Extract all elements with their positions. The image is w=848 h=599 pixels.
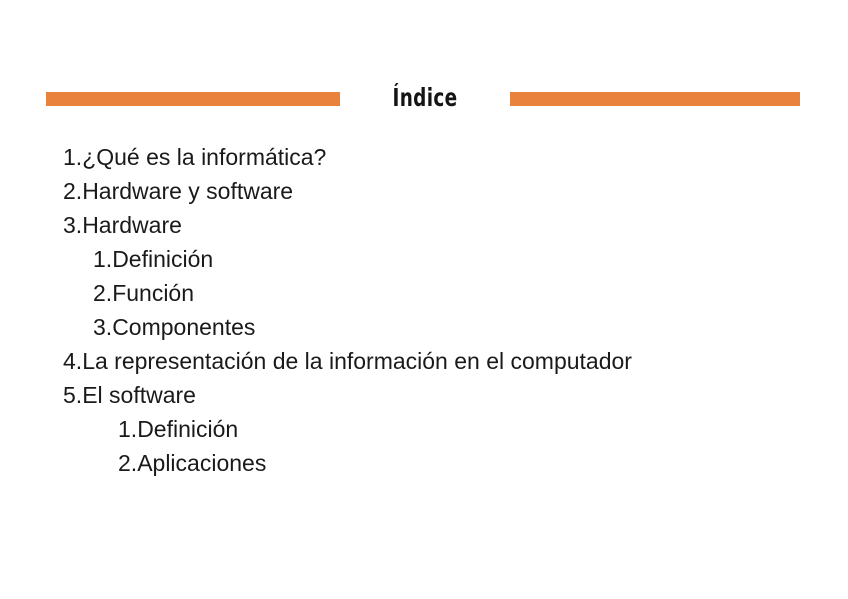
- toc-item-label: ¿Qué es la informática?: [82, 144, 326, 170]
- toc-item-number: 1.: [63, 144, 82, 170]
- toc-item[interactable]: 3.Componentes: [0, 310, 848, 344]
- toc-item-label: La representación de la información en e…: [82, 348, 632, 374]
- title-rule-right-decoration: [510, 92, 800, 106]
- toc-item-number: 2.: [63, 178, 82, 204]
- page-title: Índice: [355, 82, 494, 114]
- toc-item-label: Definición: [137, 416, 238, 442]
- title-band: Índice: [0, 82, 848, 116]
- toc-item-label: Hardware y software: [82, 178, 293, 204]
- toc-item[interactable]: 2.Aplicaciones: [0, 446, 848, 480]
- toc-item[interactable]: 3.Hardware: [0, 208, 848, 242]
- toc-item-number: 2.: [118, 450, 137, 476]
- toc-item[interactable]: 4.La representación de la información en…: [0, 344, 848, 378]
- toc-item[interactable]: 2.Función: [0, 276, 848, 310]
- toc-item[interactable]: 1.Definición: [0, 242, 848, 276]
- table-of-contents: 1.¿Qué es la informática?2.Hardware y so…: [0, 140, 848, 480]
- toc-item-label: Definición: [112, 246, 213, 272]
- title-rule-left-decoration: [46, 92, 340, 106]
- toc-item-number: 5.: [63, 382, 82, 408]
- slide-canvas: Índice 1.¿Qué es la informática?2.Hardwa…: [0, 0, 848, 599]
- toc-item[interactable]: 5.El software: [0, 378, 848, 412]
- toc-item-label: El software: [82, 382, 196, 408]
- toc-item[interactable]: 2.Hardware y software: [0, 174, 848, 208]
- toc-item-number: 3.: [93, 314, 112, 340]
- toc-item-number: 1.: [93, 246, 112, 272]
- toc-item-number: 4.: [63, 348, 82, 374]
- toc-item-label: Aplicaciones: [137, 450, 266, 476]
- toc-item-number: 2.: [93, 280, 112, 306]
- toc-item-label: Componentes: [112, 314, 255, 340]
- toc-item-number: 3.: [63, 212, 82, 238]
- toc-item[interactable]: 1.Definición: [0, 412, 848, 446]
- toc-item-label: Función: [112, 280, 194, 306]
- toc-item-label: Hardware: [82, 212, 182, 238]
- toc-item-number: 1.: [118, 416, 137, 442]
- toc-item[interactable]: 1.¿Qué es la informática?: [0, 140, 848, 174]
